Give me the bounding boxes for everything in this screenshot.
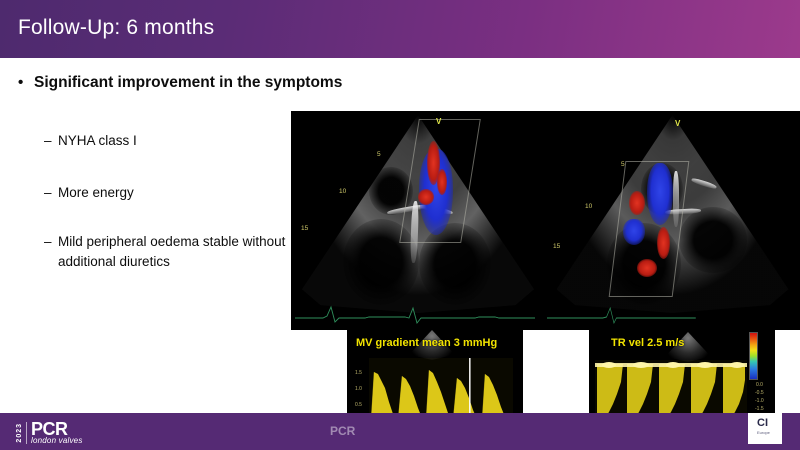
doppler-jet-red: [637, 259, 657, 277]
doppler-jet-blue: [647, 163, 673, 225]
sub-bullet-text: NYHA class I: [58, 131, 137, 151]
doppler-jet-red: [418, 189, 434, 205]
logo-subtitle-text: london valves: [31, 437, 83, 445]
apex-marker-icon: V: [675, 119, 680, 128]
sub-bullet-nyha: – NYHA class I: [44, 131, 304, 151]
axis-label: 1.0: [355, 386, 362, 392]
sub-bullet-oedema: – Mild peripheral oedema stable without …: [44, 232, 304, 271]
doppler-jet-red: [629, 191, 645, 215]
apex-marker-icon: V: [436, 117, 441, 126]
dash-marker-icon: –: [44, 183, 58, 203]
sub-bullet-energy: – More energy: [44, 183, 304, 203]
doppler-jet-red: [657, 227, 670, 259]
sub-bullet-text: More energy: [58, 183, 134, 203]
doppler-jet-blue: [623, 219, 645, 245]
depth-mark-10: 10: [585, 203, 592, 210]
logo-divider: [26, 422, 27, 444]
partner-logo-subtitle: Europe: [757, 431, 770, 435]
partner-logo: CI Europe: [757, 418, 770, 435]
depth-mark-10: 10: [339, 188, 346, 195]
dash-marker-icon: –: [44, 131, 58, 151]
mv-gradient-label: MV gradient mean 3 mmHg: [356, 337, 497, 349]
axis-label: -1.5: [755, 406, 764, 412]
depth-mark-15: 15: [301, 225, 308, 232]
slide-footer-bar: [0, 413, 800, 450]
axis-label: 1.5: [355, 370, 362, 376]
bullet-marker-icon: •: [18, 74, 34, 91]
echo-right-panel: V 5 10 15: [545, 111, 800, 330]
axis-label: 0.5: [355, 402, 362, 408]
axis-label: -0.5: [755, 390, 764, 396]
echo-left-panel: V 5 10 15: [291, 111, 545, 330]
sub-bullet-text: Mild peripheral oedema stable without ad…: [58, 232, 304, 271]
axis-label: 0.0: [756, 382, 763, 388]
chamber-cavity: [679, 207, 747, 273]
tr-velocity-label: TR vel 2.5 m/s: [611, 337, 684, 349]
page-title: Follow-Up: 6 months: [18, 16, 214, 40]
logo-pcr-text: PCR: [31, 421, 83, 438]
ecg-trace: [547, 304, 697, 326]
pcr-london-valves-logo: 2023 PCR london valves: [16, 419, 83, 447]
logo-year: 2023: [16, 423, 23, 443]
dash-marker-icon: –: [44, 232, 58, 252]
echocardiogram-image-group: V 5 10 15 V 5 10 15: [291, 111, 800, 330]
color-doppler-scale-bar: [749, 332, 758, 380]
depth-mark-15: 15: [553, 243, 560, 250]
depth-mark-5: 5: [621, 161, 625, 168]
main-bullet-text: Significant improvement in the symptoms: [34, 74, 342, 92]
partner-logo-text: CI: [757, 417, 768, 429]
axis-label: -1.0: [755, 398, 764, 404]
doppler-jet-red: [437, 169, 447, 195]
main-bullet: • Significant improvement in the symptom…: [18, 74, 438, 92]
depth-mark-5: 5: [377, 151, 381, 158]
ecg-trace: [295, 304, 537, 326]
footer-watermark: PCR: [330, 424, 355, 438]
